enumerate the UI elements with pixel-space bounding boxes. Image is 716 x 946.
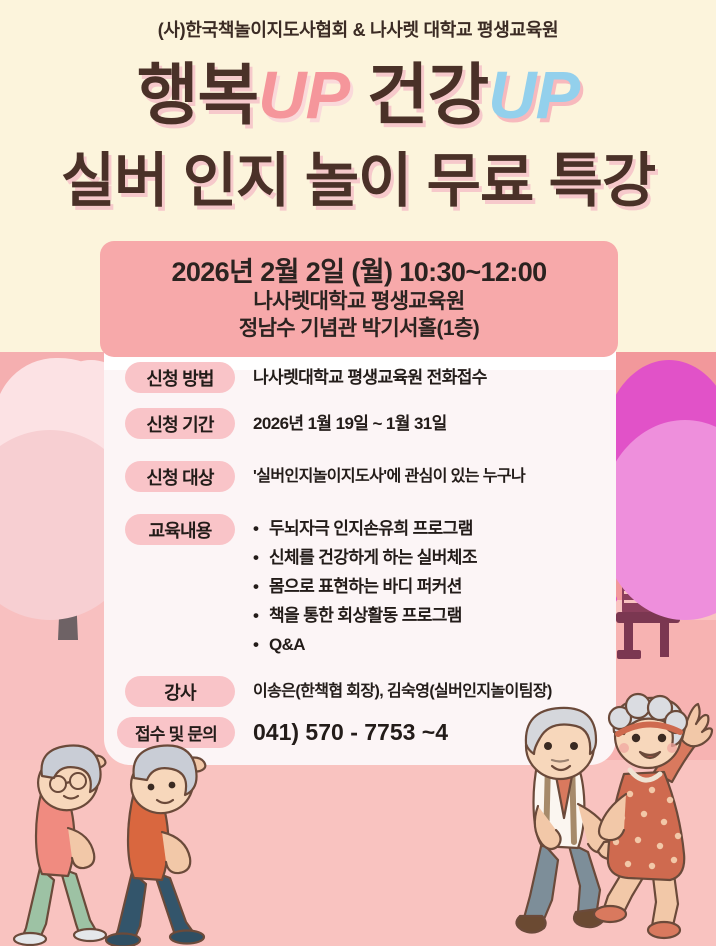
label-curriculum: 교육내용 [125, 514, 235, 545]
organization-line: (사)한국책놀이지도사협회 & 나사렛 대학교 평생교육원 [0, 16, 716, 42]
detail-row-curriculum: 교육내용 두뇌자극 인지손유희 프로그램 신체를 건강하게 하는 실버체조 몸으… [104, 514, 616, 659]
value-apply-method: 나사렛대학교 평생교육원 전화접수 [253, 362, 487, 393]
detail-row-target: 신청 대상 '실버인지놀이지도사'에 관심이 있는 누구나 [104, 461, 616, 492]
list-item: 두뇌자극 인지손유희 프로그램 [253, 514, 477, 543]
event-datetime: 2026년 2월 2일 (월) 10:30~12:00 [171, 256, 546, 288]
detail-row-apply-method: 신청 방법 나사렛대학교 평생교육원 전화접수 [104, 362, 616, 393]
page-title-line1: 행복UP 건강UP [0, 62, 716, 129]
list-item: 책을 통한 회상활동 프로그램 [253, 601, 477, 630]
label-instructor: 강사 [125, 676, 235, 707]
label-target: 신청 대상 [125, 461, 235, 492]
label-apply-period: 신청 기간 [125, 408, 235, 439]
value-apply-period: 2026년 1월 19일 ~ 1월 31일 [253, 408, 447, 439]
value-instructor: 이송은(한책협 회장), 김숙영(실버인지놀이팀장) [253, 676, 552, 707]
title-up-blue: UP [488, 58, 579, 133]
bench-foot-icon [617, 650, 641, 659]
value-contact[interactable]: 041) 570 - 7753 ~4 [253, 717, 448, 748]
detail-row-apply-period: 신청 기간 2026년 1월 19일 ~ 1월 31일 [104, 408, 616, 439]
title-happy: 행복 [137, 58, 258, 133]
event-datetime-box: 2026년 2월 2일 (월) 10:30~12:00 나사렛대학교 평생교육원… [100, 241, 618, 357]
detail-rows: 신청 방법 나사렛대학교 평생교육원 전화접수 신청 기간 2026년 1월 1… [104, 362, 616, 748]
elderly-man-stretching-icon [96, 734, 224, 946]
title-health: 건강 [367, 58, 488, 133]
poster-canvas: (사)한국책놀이지도사협회 & 나사렛 대학교 평생교육원 행복UP 건강UP … [0, 0, 716, 946]
list-item: 몸으로 표현하는 바디 퍼커션 [253, 572, 477, 601]
elderly-woman-dancing-icon [600, 690, 716, 946]
curriculum-list: 두뇌자극 인지손유희 프로그램 신체를 건강하게 하는 실버체조 몸으로 표현하… [253, 514, 477, 659]
bench-leg-icon [660, 623, 669, 657]
label-apply-method: 신청 방법 [125, 362, 235, 393]
page-title-line2: 실버 인지 놀이 무료 특강 [0, 152, 716, 211]
event-venue-line1: 나사렛대학교 평생교육원 [253, 288, 464, 315]
list-item: 신체를 건강하게 하는 실버체조 [253, 543, 477, 572]
value-target: '실버인지놀이지도사'에 관심이 있는 누구나 [253, 461, 525, 492]
event-venue-line2: 정남수 기념관 박기서홀(1층) [239, 315, 479, 342]
list-item: Q&A [253, 630, 477, 659]
title-up-pink: UP [258, 58, 349, 133]
